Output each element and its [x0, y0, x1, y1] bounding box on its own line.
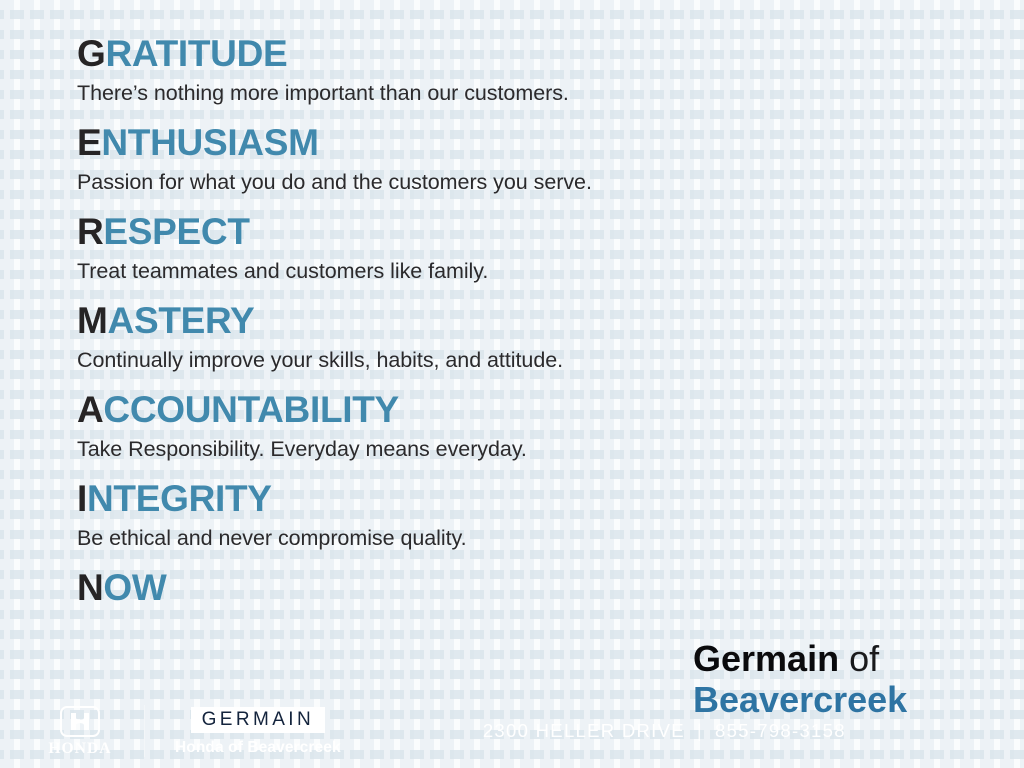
- core-values-list: GRATITUDE There’s nothing more important…: [77, 34, 817, 608]
- dealer-address: 2300 HELLER DRIVE: [483, 720, 685, 741]
- value-initial: I: [77, 478, 87, 519]
- value-item-now: NOW: [77, 568, 817, 608]
- value-initial: M: [77, 300, 108, 341]
- brand-name-connector: of: [839, 638, 879, 679]
- value-rest: NTEGRITY: [87, 478, 272, 519]
- value-initial: G: [77, 33, 105, 74]
- honda-h-emblem-icon: [60, 706, 100, 737]
- dealer-phone[interactable]: 855-798-3158: [715, 720, 846, 741]
- footer-brand-group: HONDA GERMAIN Honda of Beavercreek: [0, 705, 341, 757]
- value-item-respect: RESPECT Treat teammates and customers li…: [77, 212, 817, 286]
- value-description: Continually improve your skills, habits,…: [77, 346, 817, 375]
- value-heading-respect: RESPECT: [77, 212, 817, 252]
- germain-logo: GERMAIN Honda of Beavercreek: [175, 707, 341, 756]
- honda-wordmark: HONDA: [48, 741, 111, 757]
- value-rest: CCOUNTABILITY: [103, 389, 399, 430]
- value-item-accountability: ACCOUNTABILITY Take Responsibility. Ever…: [77, 390, 817, 464]
- value-heading-accountability: ACCOUNTABILITY: [77, 390, 817, 430]
- value-initial: A: [77, 389, 103, 430]
- brand-name-primary: Germain: [693, 638, 839, 679]
- value-rest: OW: [103, 567, 166, 608]
- value-item-gratitude: GRATITUDE There’s nothing more important…: [77, 34, 817, 108]
- value-description: Be ethical and never compromise quality.: [77, 524, 817, 553]
- footer-contact-group: 2300 HELLER DRIVE|855-798-3158: [341, 720, 1024, 742]
- value-description: Passion for what you do and the customer…: [77, 168, 817, 197]
- slide-canvas: GRATITUDE There’s nothing more important…: [0, 0, 1024, 768]
- value-heading-integrity: INTEGRITY: [77, 479, 817, 519]
- honda-logo: HONDA: [42, 706, 118, 757]
- value-rest: RATITUDE: [105, 33, 287, 74]
- footer-divider: [144, 705, 145, 757]
- value-item-enthusiasm: ENTHUSIASM Passion for what you do and t…: [77, 123, 817, 197]
- value-item-mastery: MASTERY Continually improve your skills,…: [77, 301, 817, 375]
- germain-dealership-name: Honda of Beavercreek: [175, 740, 341, 756]
- value-heading-enthusiasm: ENTHUSIASM: [77, 123, 817, 163]
- contact-line: 2300 HELLER DRIVE|855-798-3158: [483, 720, 846, 742]
- value-rest: NTHUSIASM: [101, 122, 318, 163]
- value-heading-mastery: MASTERY: [77, 301, 817, 341]
- slide-content: GRATITUDE There’s nothing more important…: [0, 0, 1024, 768]
- germain-wordmark: GERMAIN: [202, 709, 314, 730]
- value-description: There’s nothing more important than our …: [77, 79, 817, 108]
- value-heading-now: NOW: [77, 568, 817, 608]
- value-initial: E: [77, 122, 101, 163]
- value-description: Treat teammates and customers like famil…: [77, 257, 817, 286]
- value-description: Take Responsibility. Everyday means ever…: [77, 435, 817, 464]
- contact-separator: |: [697, 720, 703, 742]
- value-rest: ESPECT: [103, 211, 249, 252]
- germain-wordmark-box: GERMAIN: [191, 707, 325, 733]
- value-item-integrity: INTEGRITY Be ethical and never compromis…: [77, 479, 817, 553]
- footer-bar: HONDA GERMAIN Honda of Beavercreek 2300 …: [0, 694, 1024, 768]
- value-initial: R: [77, 211, 103, 252]
- value-rest: ASTERY: [108, 300, 255, 341]
- value-initial: N: [77, 567, 103, 608]
- value-heading-gratitude: GRATITUDE: [77, 34, 817, 74]
